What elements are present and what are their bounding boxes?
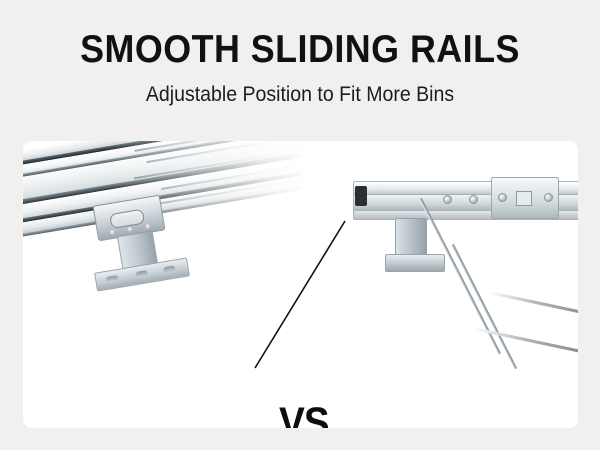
vs-label: VS xyxy=(279,402,329,428)
header: SMOOTH SLIDING RAILS Adjustable Position… xyxy=(0,0,600,130)
wire-frame-rod xyxy=(451,244,517,370)
product-photo-others xyxy=(323,141,578,428)
wire-frame-rod xyxy=(489,291,578,317)
comparison-panel: VS Ours Others Smooth Moving Quiet xyxy=(23,141,578,428)
bracket-foot-others xyxy=(385,254,445,272)
rail-mounting-plate xyxy=(491,177,559,219)
page-title: SMOOTH SLIDING RAILS xyxy=(24,30,576,70)
product-photo-ours xyxy=(23,141,303,428)
page-subtitle: Adjustable Position to Fit More Bins xyxy=(21,82,579,108)
rail-end-cap xyxy=(355,186,367,206)
wire-frame-rod xyxy=(473,327,578,355)
